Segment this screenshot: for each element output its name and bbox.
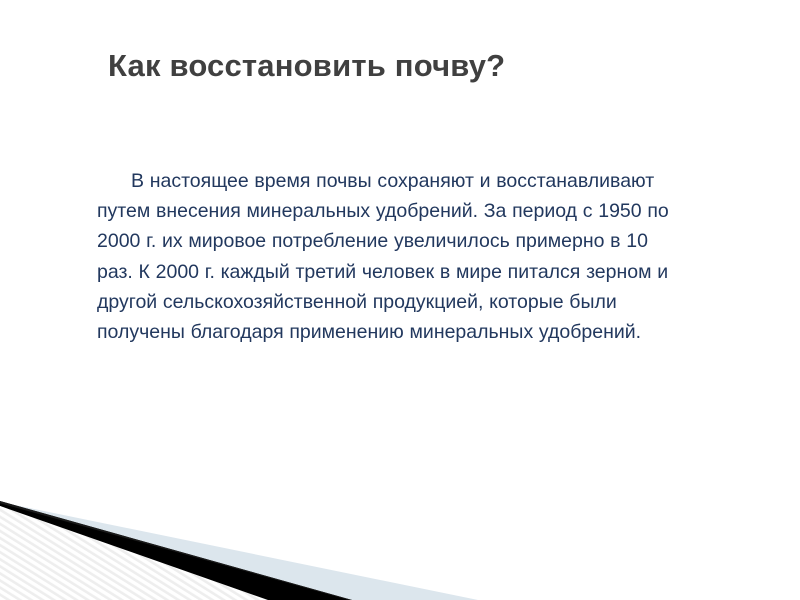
page-title: Как восстановить почву?	[108, 46, 748, 86]
corner-wedge-graphic	[0, 490, 800, 600]
decor-hairline-edge	[0, 501, 352, 600]
body-text-block: В настоящее время почвы сохраняют и восс…	[97, 166, 687, 347]
decor-pale-blue-wedge	[0, 502, 478, 600]
corner-wedge-svg	[0, 490, 800, 600]
slide-canvas: Как восстановить почву? В настоящее врем…	[0, 0, 800, 600]
body-paragraph: В настоящее время почвы сохраняют и восс…	[97, 166, 687, 347]
decor-black-wedge	[0, 501, 352, 600]
decor-striped-triangle	[0, 506, 268, 600]
